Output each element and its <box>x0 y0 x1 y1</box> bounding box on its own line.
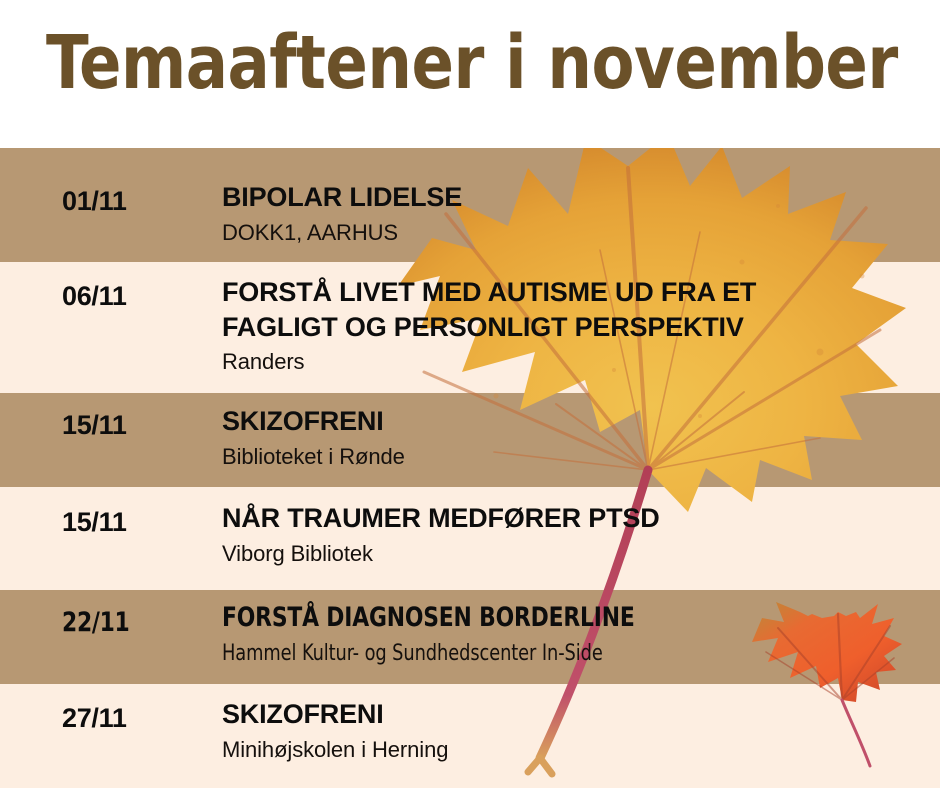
event-text-block: FORSTÅ DIAGNOSEN BORDERLINE Hammel Kultu… <box>222 601 922 667</box>
event-title: NÅR TRAUMER MEDFØRER PTSD <box>222 501 922 536</box>
event-title: SKIZOFRENI <box>222 404 922 439</box>
event-row[interactable]: 01/11 BIPOLAR LIDELSE DOKK1, AARHUS <box>0 148 940 262</box>
page-title: Temaaftener i november <box>46 25 898 103</box>
event-text-block: FORSTÅ LIVET MED AUTISME UD FRA ET FAGLI… <box>222 275 922 376</box>
event-place: Biblioteket i Rønde <box>222 443 922 471</box>
event-date: 15/11 <box>62 410 127 441</box>
poster-canvas: Temaaftener i november 01/11 BIPOLAR LID… <box>0 0 940 788</box>
event-text-block: SKIZOFRENI Minihøjskolen i Herning <box>222 697 922 763</box>
event-date: 22/11 <box>62 607 129 638</box>
event-text-block: NÅR TRAUMER MEDFØRER PTSD Viborg Bibliot… <box>222 501 922 567</box>
event-date: 06/11 <box>62 281 127 312</box>
event-text-block: SKIZOFRENI Biblioteket i Rønde <box>222 404 922 470</box>
event-row[interactable]: 15/11 SKIZOFRENI Biblioteket i Rønde <box>0 393 940 487</box>
event-text-block: BIPOLAR LIDELSE DOKK1, AARHUS <box>222 180 922 246</box>
event-place: DOKK1, AARHUS <box>222 219 922 247</box>
event-title: SKIZOFRENI <box>222 697 922 732</box>
title-area: Temaaftener i november <box>0 0 940 148</box>
event-place: Hammel Kultur- og Sundhedscenter In-Side <box>222 640 852 668</box>
event-title: FORSTÅ LIVET MED AUTISME UD FRA ET FAGLI… <box>222 275 922 344</box>
event-place: Viborg Bibliotek <box>222 540 922 568</box>
event-title: BIPOLAR LIDELSE <box>222 180 922 215</box>
event-date: 27/11 <box>62 703 127 734</box>
event-title: FORSTÅ DIAGNOSEN BORDERLINE <box>222 601 852 636</box>
event-date: 01/11 <box>62 186 127 217</box>
event-row[interactable]: 15/11 NÅR TRAUMER MEDFØRER PTSD Viborg B… <box>0 487 940 590</box>
event-place: Minihøjskolen i Herning <box>222 736 922 764</box>
event-date: 15/11 <box>62 507 127 538</box>
event-row[interactable]: 06/11 FORSTÅ LIVET MED AUTISME UD FRA ET… <box>0 262 940 393</box>
event-row[interactable]: 22/11 FORSTÅ DIAGNOSEN BORDERLINE Hammel… <box>0 590 940 684</box>
event-row[interactable]: 27/11 SKIZOFRENI Minihøjskolen i Herning <box>0 684 940 788</box>
event-place: Randers <box>222 348 922 376</box>
